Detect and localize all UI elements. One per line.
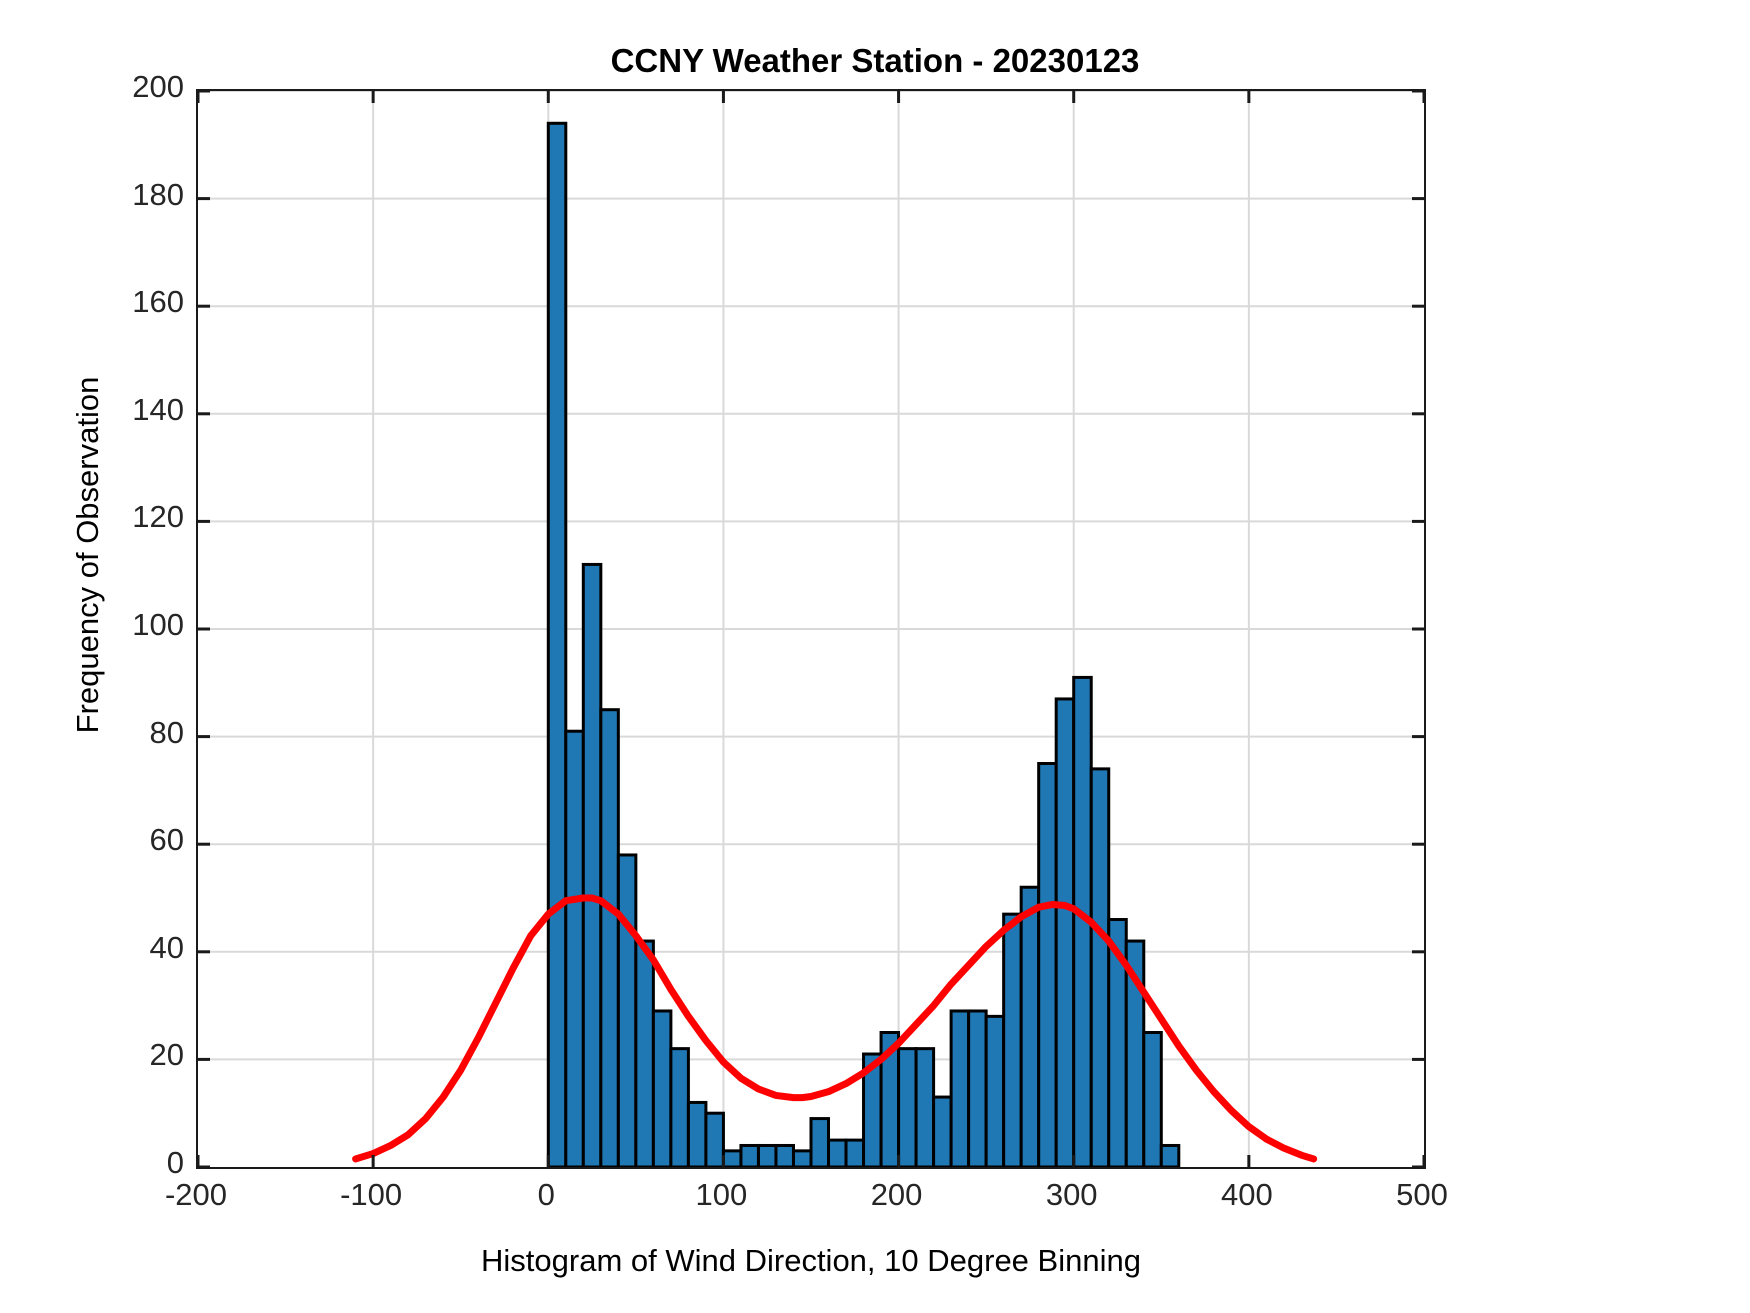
y-tick-label: 60 bbox=[44, 824, 184, 855]
y-tick-label: 140 bbox=[44, 394, 184, 425]
histogram-bar bbox=[793, 1151, 811, 1167]
y-tick-label: 80 bbox=[44, 717, 184, 748]
y-tick-label: 160 bbox=[44, 286, 184, 317]
x-tick-label: 500 bbox=[1342, 1179, 1502, 1210]
y-tick-label: 100 bbox=[44, 609, 184, 640]
histogram-bar bbox=[723, 1151, 741, 1167]
histogram-bar bbox=[1161, 1145, 1179, 1167]
histogram-bar bbox=[653, 1011, 671, 1167]
x-tick-label: 0 bbox=[466, 1179, 626, 1210]
y-tick-label: 20 bbox=[44, 1039, 184, 1070]
y-tick-label: 200 bbox=[44, 71, 184, 102]
histogram-bar bbox=[671, 1049, 689, 1167]
plot-area bbox=[196, 89, 1426, 1169]
histogram-bar bbox=[1144, 1033, 1162, 1168]
x-axis-label: Histogram of Wind Direction, 10 Degree B… bbox=[196, 1243, 1426, 1279]
histogram-bar bbox=[706, 1113, 724, 1167]
histogram-bar bbox=[741, 1145, 759, 1167]
y-tick-label: 40 bbox=[44, 932, 184, 963]
x-tick-label: 100 bbox=[641, 1179, 801, 1210]
histogram-bar bbox=[1056, 699, 1074, 1167]
histogram-bar bbox=[986, 1016, 1004, 1167]
histogram-bar bbox=[618, 855, 636, 1167]
histogram-bar bbox=[688, 1102, 706, 1167]
x-tick-label: 400 bbox=[1167, 1179, 1327, 1210]
histogram-bar bbox=[548, 123, 566, 1167]
histogram-bar bbox=[583, 564, 601, 1167]
histogram-bar bbox=[776, 1145, 794, 1167]
histogram-bar bbox=[1004, 914, 1022, 1167]
y-axis-label: Frequency of Observation bbox=[70, 275, 106, 835]
histogram-bar bbox=[566, 731, 584, 1167]
histogram-bar bbox=[899, 1049, 917, 1167]
histogram-bars bbox=[548, 123, 1179, 1167]
histogram-bar bbox=[846, 1140, 864, 1167]
x-tick-label: 200 bbox=[817, 1179, 977, 1210]
histogram-bar bbox=[1039, 764, 1057, 1168]
histogram-bar bbox=[934, 1097, 952, 1167]
page-title: CCNY Weather Station - 20230123 bbox=[0, 42, 1750, 80]
y-tick-label: 120 bbox=[44, 501, 184, 532]
histogram-bar bbox=[601, 710, 619, 1167]
grid-lines bbox=[198, 91, 1424, 1167]
gaussian-fit-curve bbox=[356, 898, 1314, 1159]
x-tick-label: -200 bbox=[116, 1179, 276, 1210]
histogram-bar bbox=[951, 1011, 969, 1167]
x-tick-label: 300 bbox=[992, 1179, 1152, 1210]
x-tick-label: -100 bbox=[291, 1179, 451, 1210]
histogram-bar bbox=[811, 1119, 829, 1167]
histogram-bar bbox=[1021, 887, 1039, 1167]
histogram-bar bbox=[636, 941, 654, 1167]
histogram-bar bbox=[1091, 769, 1109, 1167]
histogram-bar bbox=[758, 1145, 776, 1167]
histogram-bar bbox=[916, 1049, 934, 1167]
y-tick-label: 0 bbox=[44, 1147, 184, 1178]
figure-canvas: CCNY Weather Station - 20230123 Frequenc… bbox=[0, 0, 1750, 1313]
histogram-bar bbox=[969, 1011, 987, 1167]
y-tick-label: 180 bbox=[44, 179, 184, 210]
histogram-bar bbox=[829, 1140, 847, 1167]
histogram-svg bbox=[198, 91, 1424, 1167]
